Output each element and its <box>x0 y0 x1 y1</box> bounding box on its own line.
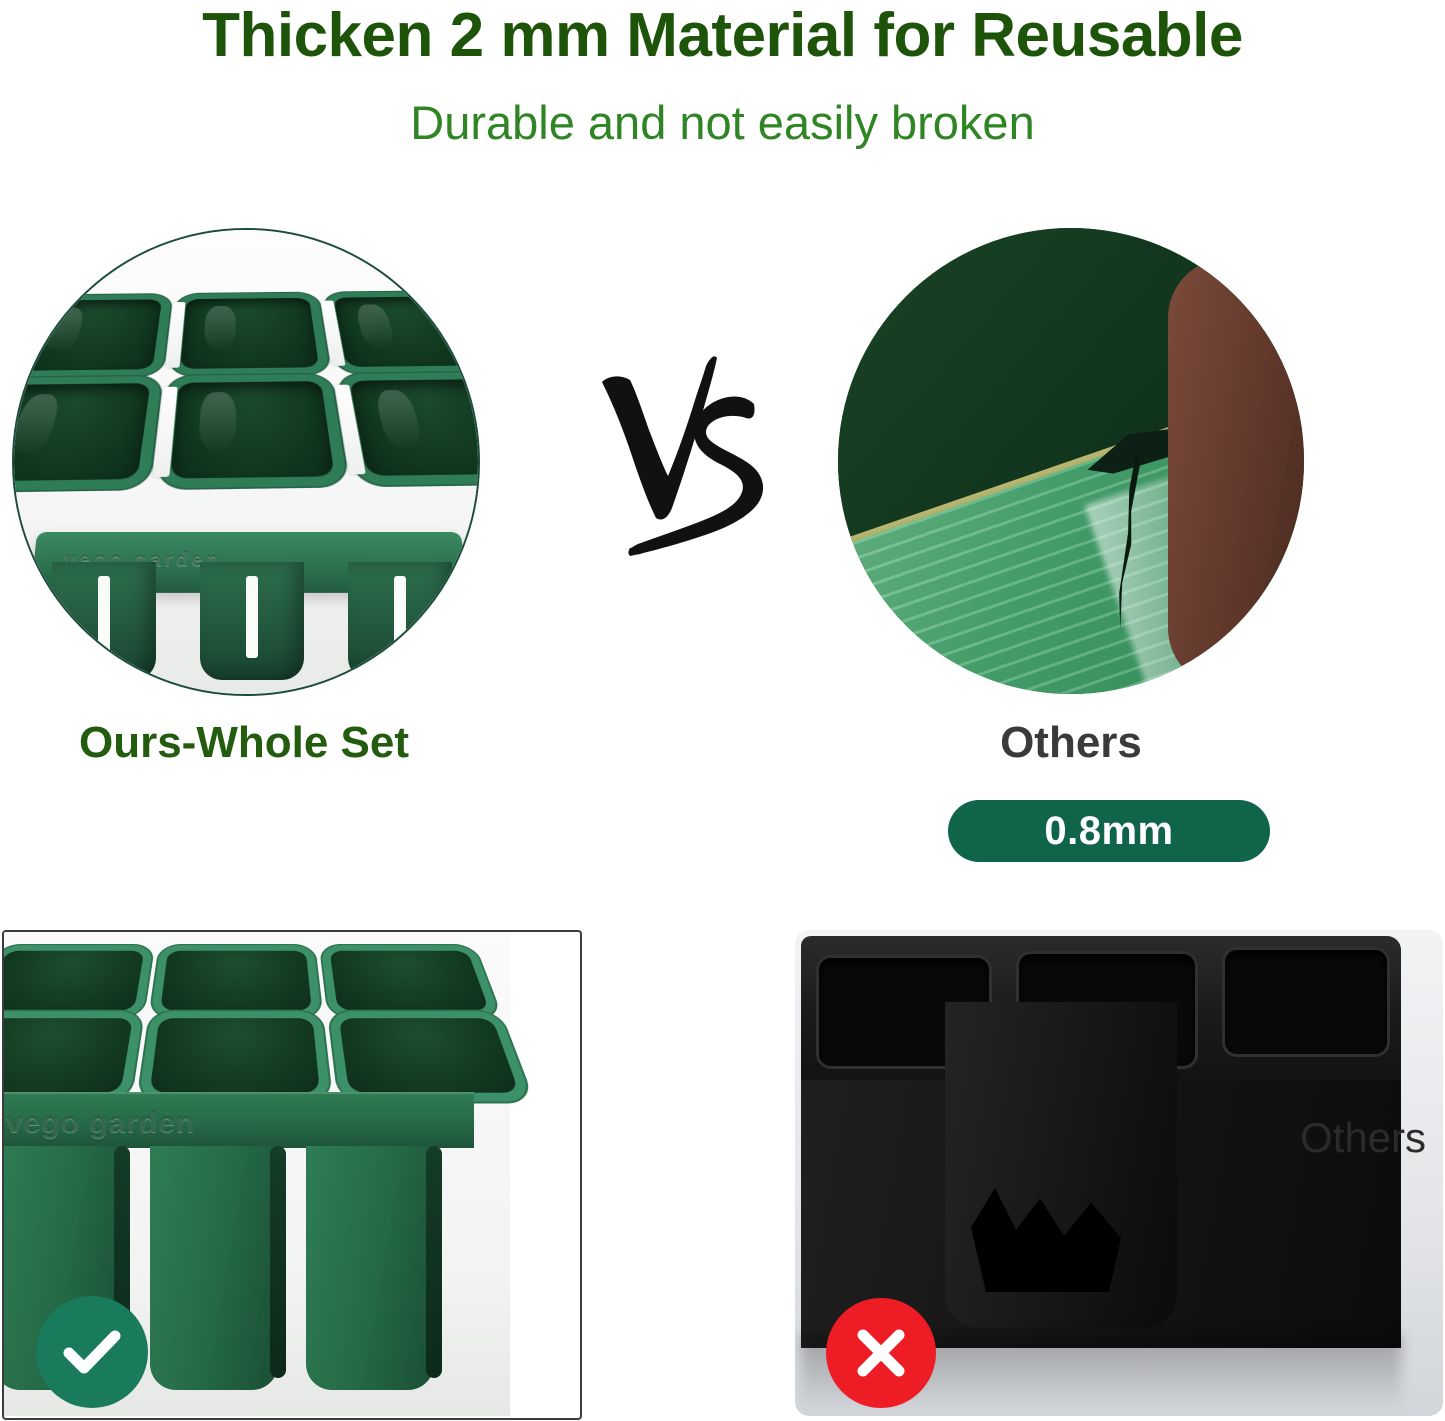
others-label-bottom: Others <box>1300 1114 1426 1162</box>
thickness-badge: 0.8mm <box>948 800 1270 862</box>
tray-leg <box>348 562 452 680</box>
tray-leg <box>52 562 156 680</box>
tray-cell <box>180 298 319 369</box>
page-title: Thicken 2 mm Material for Reusable <box>0 2 1445 70</box>
green-tray-scene: vego garden <box>14 230 478 694</box>
tray-leg <box>200 562 304 680</box>
tray-cell <box>2 951 144 1011</box>
tray-cell <box>349 379 480 476</box>
page-subtitle: Durable and not easily broken <box>0 96 1445 150</box>
tray-cell <box>334 296 480 367</box>
tray-top-grid <box>2 951 535 1087</box>
others-product-photo <box>838 228 1304 694</box>
x-icon <box>826 1298 936 1408</box>
tray-leg <box>306 1146 434 1390</box>
ours-product-photo: vego garden <box>12 228 480 696</box>
tray-cell <box>330 951 490 1011</box>
hand-thumb <box>1168 258 1304 688</box>
brand-emboss: vego garden <box>6 1106 195 1140</box>
tray-cell <box>12 383 151 481</box>
tray-legs <box>52 562 452 682</box>
cracked-pot-scene <box>838 228 1304 694</box>
ours-label: Ours-Whole Set <box>12 718 476 768</box>
tray-cell <box>2 1018 133 1093</box>
tray-cell <box>339 1018 520 1093</box>
tray-cell <box>170 381 334 478</box>
tray-rim: vego garden <box>2 1092 474 1148</box>
tray-cell <box>160 951 312 1011</box>
tray-leg <box>150 1146 278 1390</box>
others-label-top: Others <box>838 718 1304 768</box>
check-icon <box>36 1296 148 1408</box>
tray-cell <box>1225 950 1387 1054</box>
vs-icon <box>586 352 776 568</box>
tray-cell <box>13 299 162 370</box>
tray-cell <box>150 1018 320 1093</box>
